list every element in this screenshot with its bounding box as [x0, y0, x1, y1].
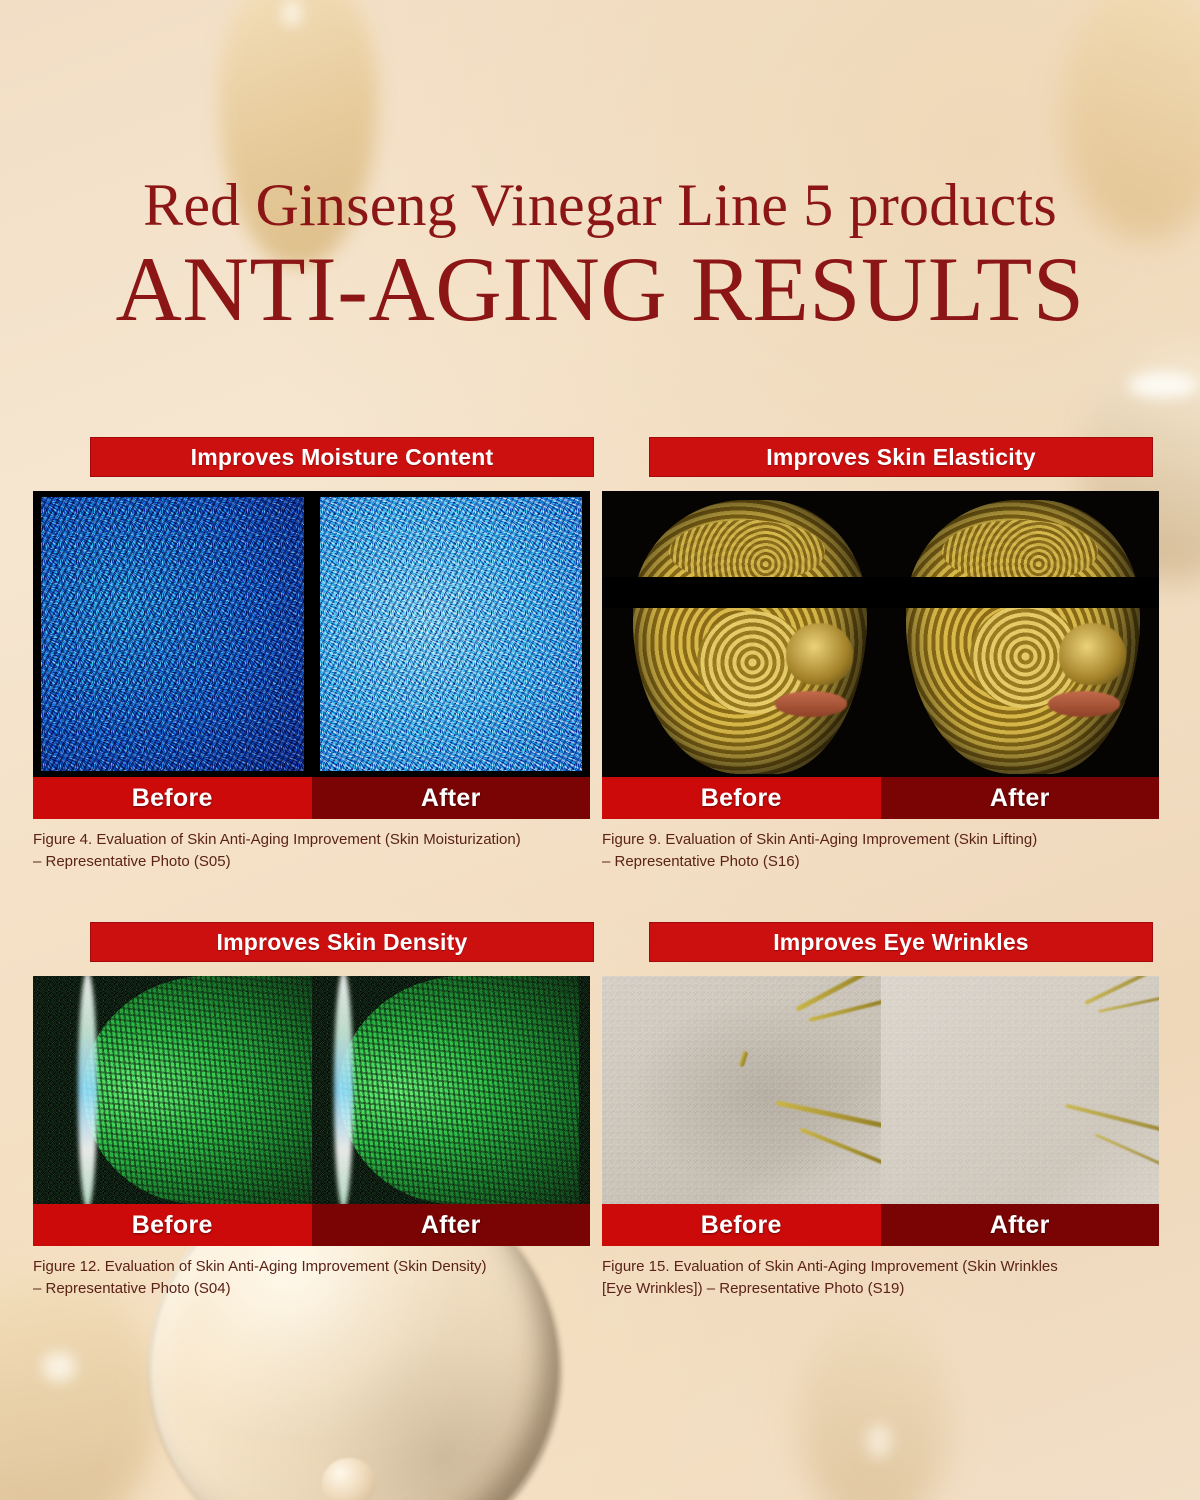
before-after-bar: Before After [33, 777, 590, 819]
after-image-elasticity [881, 491, 1160, 777]
before-label: Before [701, 784, 782, 813]
before-label-cell: Before [33, 1204, 312, 1246]
before-after-bar: Before After [602, 1204, 1159, 1246]
after-label: After [990, 1211, 1050, 1240]
privacy-bar [602, 577, 881, 608]
result-panel-density: Improves Skin Density Before After [33, 922, 590, 1300]
before-image-eye-wrinkles [602, 976, 881, 1204]
caption-line-2: – Representative Photo (S04) [33, 1278, 593, 1300]
before-label-cell: Before [602, 1204, 881, 1246]
panel-header-eye-wrinkles: Improves Eye Wrinkles [649, 922, 1153, 962]
title-headline: ANTI-AGING RESULTS [0, 241, 1200, 339]
before-after-images [602, 491, 1159, 777]
before-label: Before [132, 1211, 213, 1240]
panel-header-density: Improves Skin Density [90, 922, 594, 962]
figure-elasticity: Before After Figure 9. Evaluation of Ski… [602, 491, 1159, 873]
before-label-cell: Before [602, 777, 881, 819]
figure-eye-wrinkles: Before After Figure 15. Evaluation of Sk… [602, 976, 1159, 1300]
figure-caption-density: Figure 12. Evaluation of Skin Anti-Aging… [33, 1256, 593, 1300]
result-panel-moisture: Improves Moisture Content Before After [33, 437, 590, 873]
caption-line-2: [Eye Wrinkles]) – Representative Photo (… [602, 1278, 1162, 1300]
before-image-moisture [33, 491, 312, 777]
before-after-bar: Before After [602, 777, 1159, 819]
after-label: After [990, 784, 1050, 813]
figure-caption-moisture: Figure 4. Evaluation of Skin Anti-Aging … [33, 829, 593, 873]
before-label-cell: Before [33, 777, 312, 819]
panel-header-label: Improves Moisture Content [191, 444, 494, 471]
after-label: After [421, 1211, 481, 1240]
page-title: Red Ginseng Vinegar Line 5 products ANTI… [0, 175, 1200, 339]
panel-header-label: Improves Skin Elasticity [766, 444, 1035, 471]
before-label: Before [132, 784, 213, 813]
result-panel-eye-wrinkles: Improves Eye Wrinkles [602, 922, 1159, 1300]
infographic-page: Red Ginseng Vinegar Line 5 products ANTI… [0, 0, 1200, 1500]
figure-caption-elasticity: Figure 9. Evaluation of Skin Anti-Aging … [602, 829, 1162, 873]
panel-header-label: Improves Skin Density [217, 929, 468, 956]
caption-line-2: – Representative Photo (S16) [602, 851, 1162, 873]
before-after-images [33, 976, 590, 1204]
before-after-images [33, 491, 590, 777]
after-image-moisture [312, 491, 591, 777]
caption-line-1: Figure 9. Evaluation of Skin Anti-Aging … [602, 829, 1162, 851]
after-label-cell: After [312, 777, 591, 819]
panel-header-elasticity: Improves Skin Elasticity [649, 437, 1153, 477]
caption-line-1: Figure 4. Evaluation of Skin Anti-Aging … [33, 829, 593, 851]
before-image-elasticity [602, 491, 881, 777]
figure-density: Before After Figure 12. Evaluation of Sk… [33, 976, 590, 1300]
title-subline: Red Ginseng Vinegar Line 5 products [0, 175, 1200, 235]
panel-header-moisture: Improves Moisture Content [90, 437, 594, 477]
before-after-bar: Before After [33, 1204, 590, 1246]
after-label-cell: After [312, 1204, 591, 1246]
figure-caption-eye-wrinkles: Figure 15. Evaluation of Skin Anti-Aging… [602, 1256, 1162, 1300]
after-label-cell: After [881, 1204, 1160, 1246]
figure-moisture: Before After Figure 4. Evaluation of Ski… [33, 491, 590, 873]
privacy-bar [881, 577, 1160, 608]
caption-line-2: – Representative Photo (S05) [33, 851, 593, 873]
after-image-eye-wrinkles [881, 976, 1160, 1204]
result-panel-elasticity: Improves Skin Elasticity [602, 437, 1159, 873]
caption-line-1: Figure 15. Evaluation of Skin Anti-Aging… [602, 1256, 1162, 1278]
after-label: After [421, 784, 481, 813]
before-image-density [33, 976, 312, 1204]
after-label-cell: After [881, 777, 1160, 819]
before-after-images [602, 976, 1159, 1204]
before-label: Before [701, 1211, 782, 1240]
panel-header-label: Improves Eye Wrinkles [773, 929, 1029, 956]
caption-line-1: Figure 12. Evaluation of Skin Anti-Aging… [33, 1256, 593, 1278]
after-image-density [312, 976, 591, 1204]
